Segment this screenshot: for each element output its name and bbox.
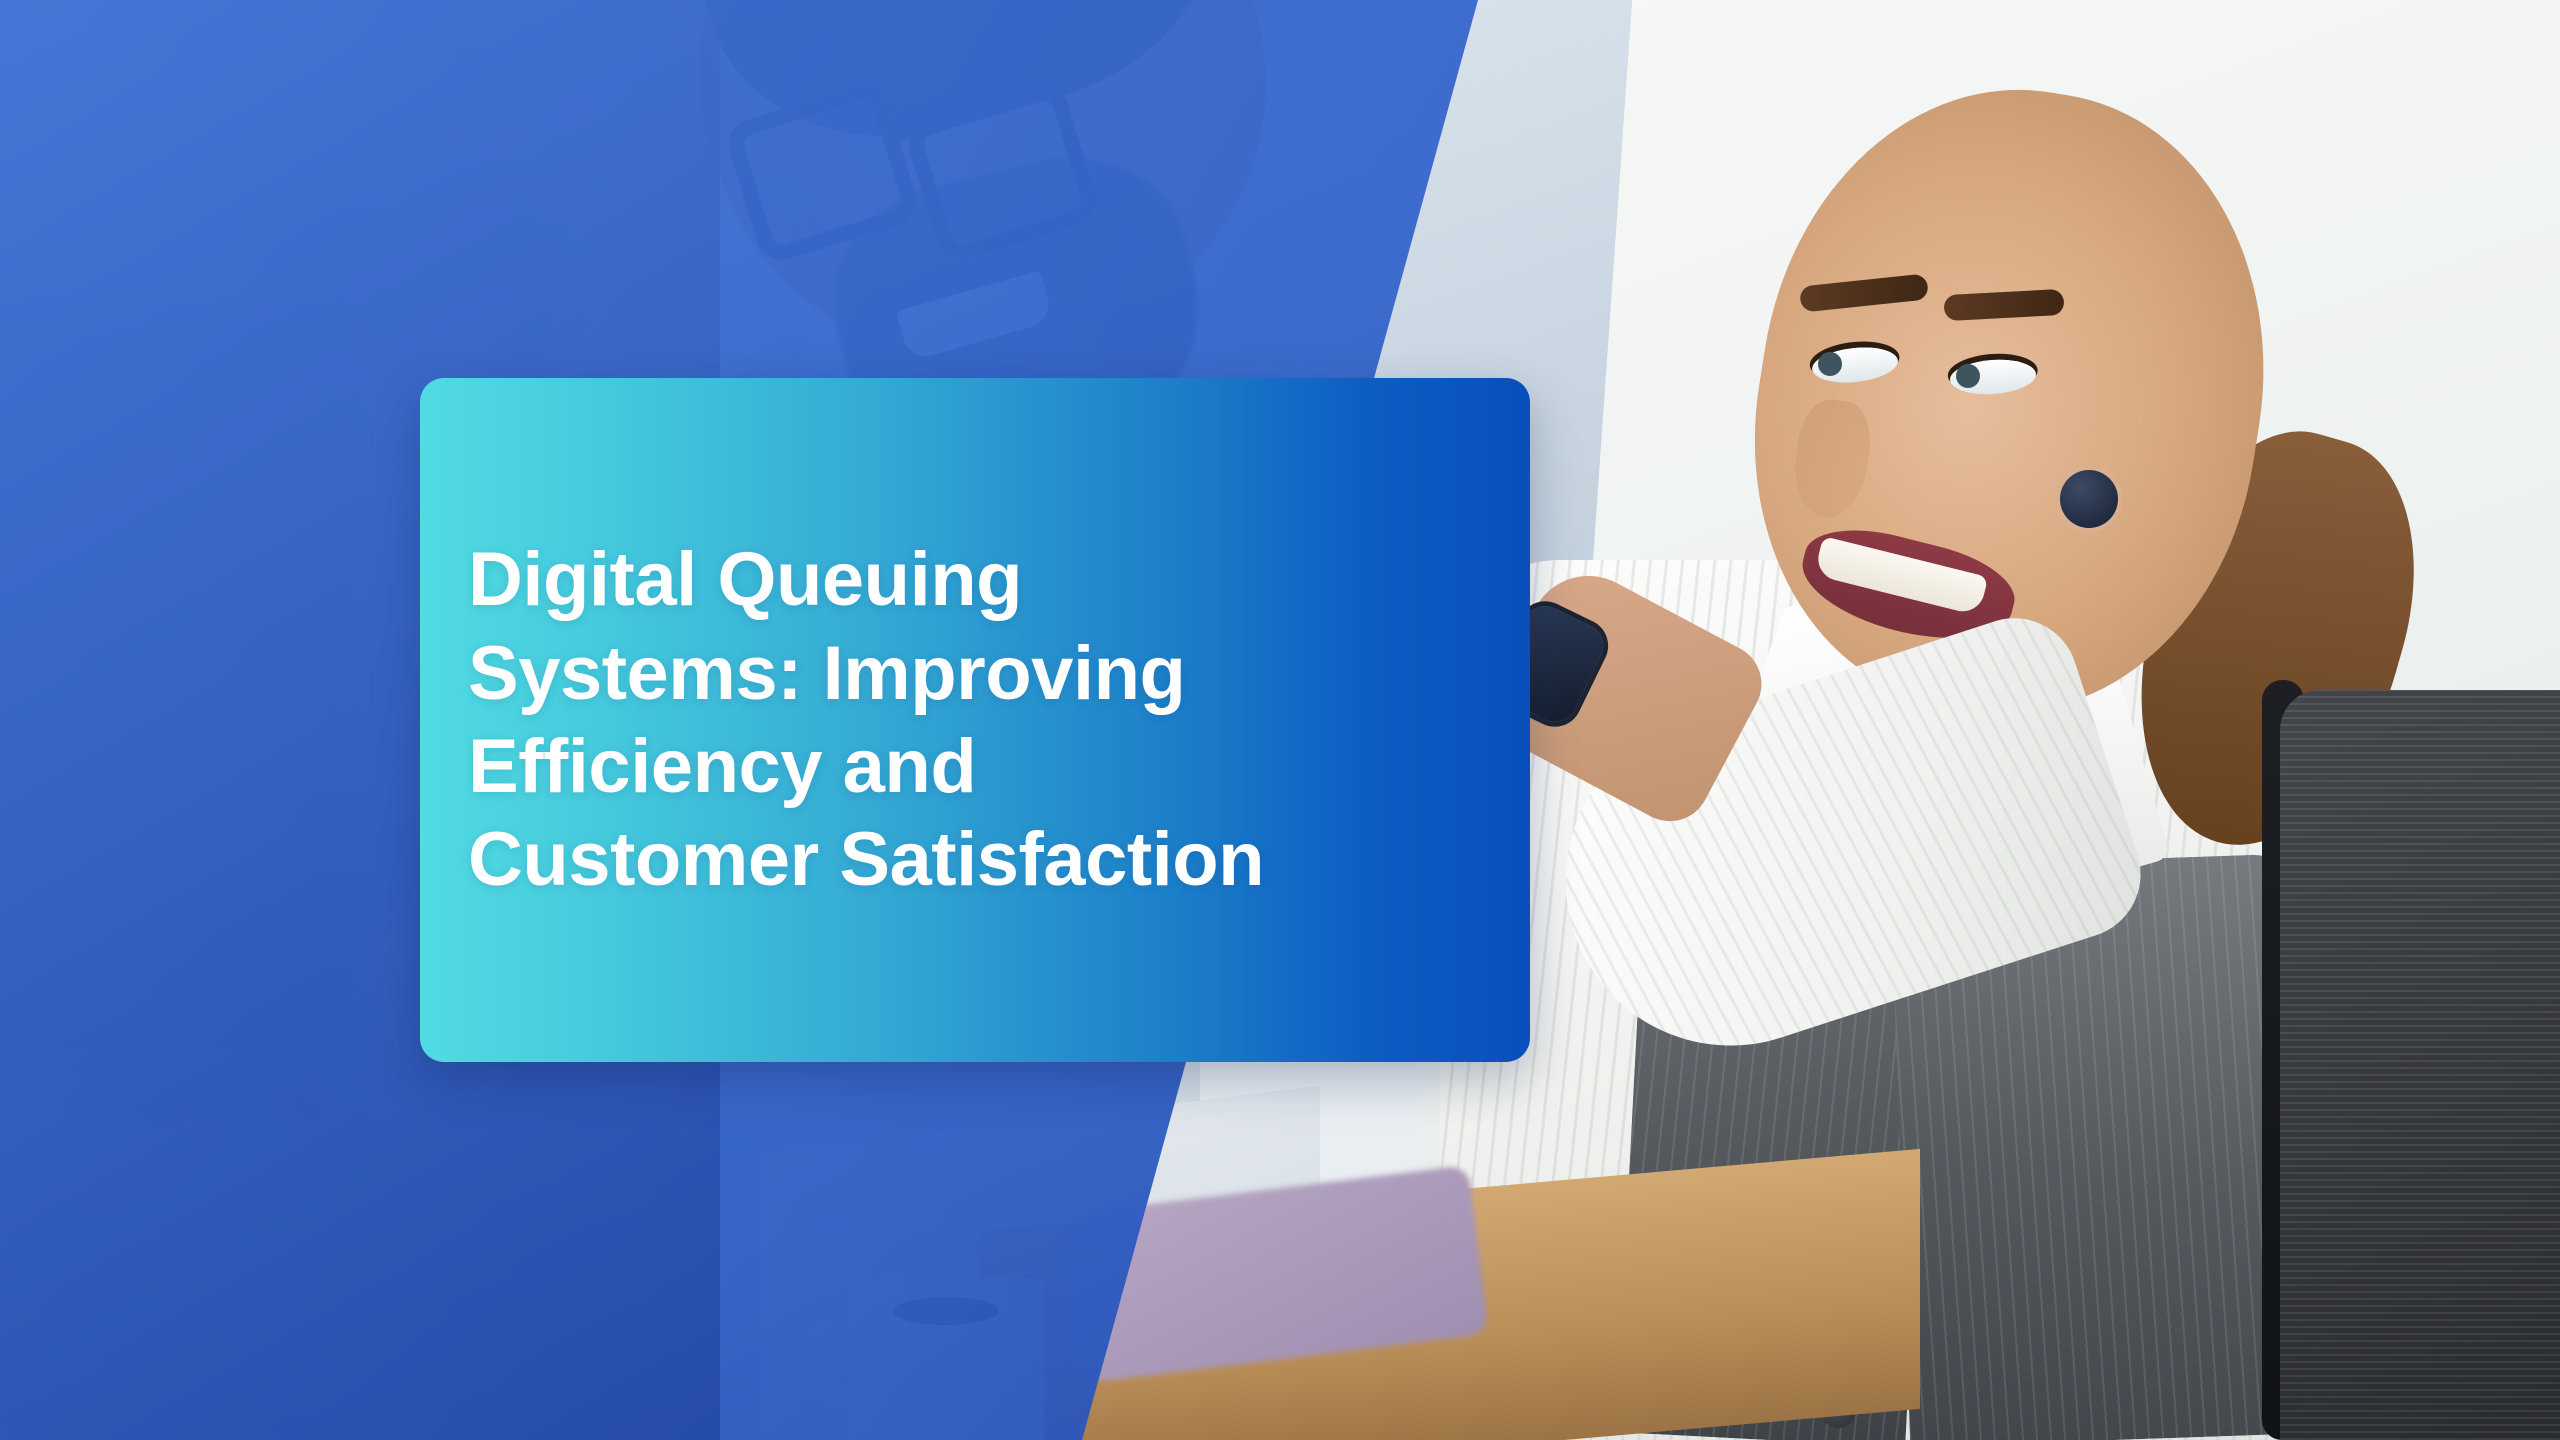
page-title: Digital Queuing Systems: Improving Effic… — [468, 533, 1264, 907]
headline-line-3: Efficiency and — [468, 720, 1264, 813]
office-chair — [2280, 690, 2560, 1440]
article-hero-banner: Digital Queuing Systems: Improving Effic… — [0, 0, 2560, 1440]
headline-line-2: Systems: Improving — [468, 627, 1264, 720]
headline-line-1: Digital Queuing — [468, 533, 1264, 626]
pupil-left — [1818, 352, 1842, 376]
headline-line-4: Customer Satisfaction — [468, 813, 1264, 906]
pupil-right — [1956, 364, 1980, 388]
headline-card: Digital Queuing Systems: Improving Effic… — [420, 378, 1530, 1062]
earring — [2060, 470, 2118, 528]
